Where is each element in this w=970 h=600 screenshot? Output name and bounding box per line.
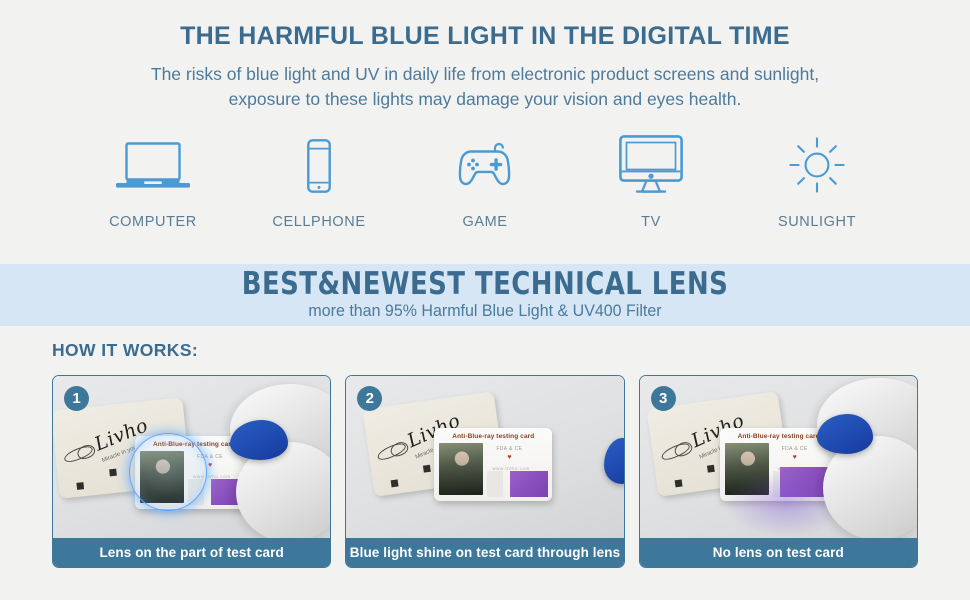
step-photo: Livho Miracle in your eyes Anti-Blue-ray…	[53, 376, 330, 538]
eyeglasses-icon	[659, 440, 691, 462]
qr-mark	[707, 465, 715, 473]
source-item-sunlight: SUNLIGHT	[734, 133, 900, 230]
source-item-game: GAME	[402, 133, 568, 230]
step-number-badge: 1	[64, 386, 89, 411]
blue-light-sources-row: COMPUTER CELLPHONE GAM	[0, 133, 970, 230]
source-label-sunlight: SUNLIGHT	[778, 214, 856, 230]
source-label-computer: COMPUTER	[109, 214, 197, 230]
sun-icon	[787, 133, 847, 195]
source-label-game: GAME	[462, 214, 507, 230]
source-label-tv: TV	[641, 214, 661, 230]
qr-mark	[423, 465, 431, 473]
step-photo: Livho Miracle in your eyes Anti-Blue-ray…	[346, 376, 623, 538]
monitor-icon	[616, 133, 686, 195]
qr-mark	[76, 482, 84, 490]
test-card-uv-patch	[510, 471, 548, 497]
hero-subtitle: The risks of blue light and UV in daily …	[0, 62, 970, 112]
test-card-cert: FDA & CE	[496, 446, 522, 452]
qr-mark	[391, 479, 399, 487]
how-it-works-section: HOW IT WORKS: Livho Miracle in your eyes…	[0, 340, 970, 568]
hero-subtitle-line-1: The risks of blue light and UV in daily …	[0, 62, 970, 87]
step-caption: Blue light shine on test card through le…	[346, 538, 623, 567]
test-card-title: Anti-Blue-ray testing card	[434, 433, 552, 440]
step-number-badge: 3	[651, 386, 676, 411]
step-caption: No lens on test card	[640, 538, 917, 567]
banner-subtitle: more than 95% Harmful Blue Light & UV400…	[15, 302, 956, 322]
how-it-works-card[interactable]: Livho Miracle in your eyes Anti-Blue-ray…	[639, 375, 918, 568]
photo-scene: Livho Miracle in your eyes Anti-Blue-ray…	[346, 376, 623, 538]
step-caption: Lens on the part of test card	[53, 538, 330, 567]
test-card: Anti-Blue-ray testing card FDA & CE ♥ ww…	[434, 428, 552, 501]
how-it-works-card-list: Livho Miracle in your eyes Anti-Blue-ray…	[0, 375, 970, 568]
how-it-works-title: HOW IT WORKS:	[0, 340, 970, 361]
heart-icon: ♥	[507, 454, 511, 461]
test-card-portrait	[439, 443, 483, 495]
technical-lens-banner: BEST&NEWEST TECHNICAL LENS more than 95%…	[0, 264, 970, 326]
eyeglasses-icon	[376, 440, 408, 462]
page-title: THE HARMFUL BLUE LIGHT IN THE DIGITAL TI…	[0, 22, 970, 51]
how-it-works-card[interactable]: Livho Miracle in your eyes Anti-Blue-ray…	[345, 375, 624, 568]
eyeglasses-icon	[62, 443, 94, 464]
source-item-computer: COMPUTER	[70, 133, 236, 230]
heart-icon: ♥	[208, 462, 212, 469]
banner-title: BEST&NEWEST TECHNICAL LENS	[34, 268, 936, 301]
how-it-works-card[interactable]: Livho Miracle in your eyes Anti-Blue-ray…	[52, 375, 331, 568]
smartphone-icon	[299, 133, 339, 195]
source-item-cellphone: CELLPHONE	[236, 133, 402, 230]
blue-lens	[230, 420, 288, 460]
qr-mark	[674, 479, 682, 487]
source-label-cellphone: CELLPHONE	[272, 214, 365, 230]
hero-section: THE HARMFUL BLUE LIGHT IN THE DIGITAL TI…	[0, 0, 970, 111]
gamepad-icon	[454, 133, 516, 195]
test-card-cert: FDA & CE	[782, 446, 808, 452]
photo-scene: Livho Miracle in your eyes Anti-Blue-ray…	[640, 376, 917, 538]
hero-subtitle-line-2: exposure to these lights may damage your…	[0, 87, 970, 112]
heart-icon: ♥	[793, 454, 797, 461]
qr-mark	[109, 469, 117, 477]
step-photo: Livho Miracle in your eyes Anti-Blue-ray…	[640, 376, 917, 538]
blue-lens	[817, 414, 873, 454]
laptop-icon	[114, 133, 192, 195]
test-card-blank-patch	[487, 471, 503, 497]
source-item-tv: TV	[568, 133, 734, 230]
lens-glow-ring	[129, 433, 207, 511]
photo-scene: Livho Miracle in your eyes Anti-Blue-ray…	[53, 376, 330, 538]
